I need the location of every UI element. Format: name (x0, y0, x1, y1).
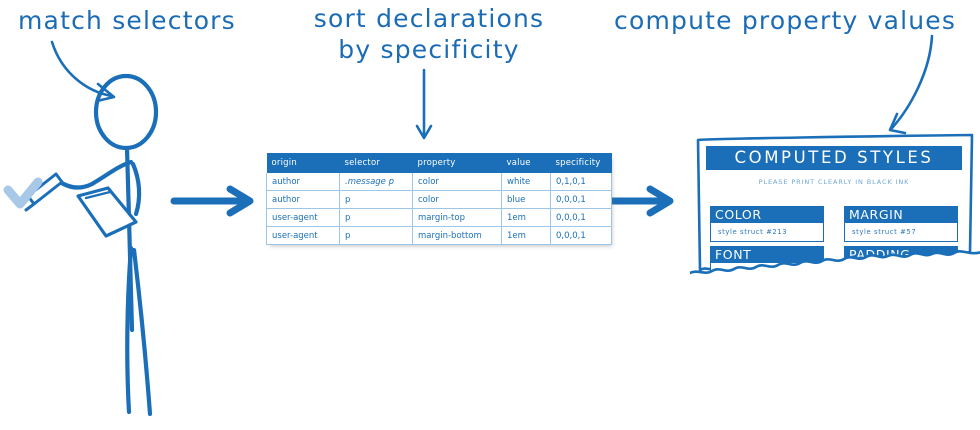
figure-spine (127, 148, 132, 330)
cell-property: margin-top (413, 209, 502, 227)
column-header-value: value (502, 153, 551, 173)
cell-origin: author (267, 173, 340, 191)
form-field-value-font: style struct #24 (710, 263, 824, 281)
figure-head (96, 76, 156, 148)
column-header-specificity: specificity (551, 153, 612, 173)
form-field-margin: MARGIN style struct #57 (844, 206, 958, 242)
computed-styles-form: COMPUTED STYLES PLEASE PRINT CLEARLY IN … (694, 136, 976, 286)
marker-pen-tip (26, 204, 34, 210)
cell-origin: user-agent (267, 227, 340, 245)
figure-right-arm (133, 164, 139, 214)
form-subtitle: PLEASE PRINT CLEARLY IN BLACK INK (702, 178, 966, 186)
table-row: author p color blue 0,0,0,1 (267, 191, 612, 209)
figure-left-arm (57, 162, 131, 187)
form-field-value-margin: style struct #57 (844, 223, 958, 242)
clipboard (78, 188, 136, 236)
form-field-value-padding (844, 263, 958, 269)
declarations-table-container: origin selector property value specifici… (266, 153, 574, 245)
clipboard-clip (86, 192, 110, 198)
figure-left-leg (127, 248, 131, 412)
table-header-row: origin selector property value specifici… (267, 153, 612, 173)
table-row: author .message p color white 0,1,0,1 (267, 173, 612, 191)
marker-pen (28, 174, 62, 204)
form-field-label-font: FONT (710, 246, 824, 263)
cell-value: 1em (502, 227, 551, 245)
heading-match-selectors: match selectors (18, 6, 236, 37)
flow-arrow-1-icon (174, 189, 250, 213)
declarations-table: origin selector property value specifici… (266, 153, 612, 245)
form-field-padding: PADDING (844, 246, 958, 269)
cell-specificity: 0,1,0,1 (551, 173, 612, 191)
heading3-pointer-arrow-icon (890, 36, 932, 133)
heading2-pointer-arrow-icon (417, 70, 431, 138)
form-field-label-margin: MARGIN (844, 206, 958, 223)
cell-origin: user-agent (267, 209, 340, 227)
cell-selector: p (340, 227, 413, 245)
cell-property: color (413, 173, 502, 191)
form-field-label-color: COLOR (710, 206, 824, 223)
column-header-origin: origin (267, 153, 340, 173)
cell-value: blue (502, 191, 551, 209)
heading-compute-property-values: compute property values (614, 6, 956, 37)
figure-forearm (80, 196, 126, 222)
cell-origin: author (267, 191, 340, 209)
form-field-color: COLOR style struct #213 (710, 206, 824, 242)
column-header-selector: selector (340, 153, 413, 173)
heading-sort-declarations: sort declarations by specificity (296, 4, 562, 65)
check-mark-icon (8, 182, 38, 204)
cell-specificity: 0,0,0,1 (551, 191, 612, 209)
cell-specificity: 0,0,0,1 (551, 209, 612, 227)
cell-property: color (413, 191, 502, 209)
cell-selector: .message p (340, 173, 413, 191)
cell-value: white (502, 173, 551, 191)
cell-property: margin-bottom (413, 227, 502, 245)
table-row: user-agent p margin-bottom 1em 0,0,0,1 (267, 227, 612, 245)
cell-value: 1em (502, 209, 551, 227)
table-row: user-agent p margin-top 1em 0,0,0,1 (267, 209, 612, 227)
heading1-pointer-arrow-icon (52, 42, 114, 101)
form-field-font: FONT style struct #24 (710, 246, 824, 281)
cell-selector: p (340, 191, 413, 209)
figure-right-leg (134, 250, 150, 414)
cell-selector: p (340, 209, 413, 227)
form-title: COMPUTED STYLES (706, 146, 962, 170)
form-field-value-color: style struct #213 (710, 223, 824, 242)
form-field-label-padding: PADDING (844, 246, 958, 263)
column-header-property: property (413, 153, 502, 173)
cell-specificity: 0,0,0,1 (551, 227, 612, 245)
stick-figure-person (26, 76, 156, 414)
